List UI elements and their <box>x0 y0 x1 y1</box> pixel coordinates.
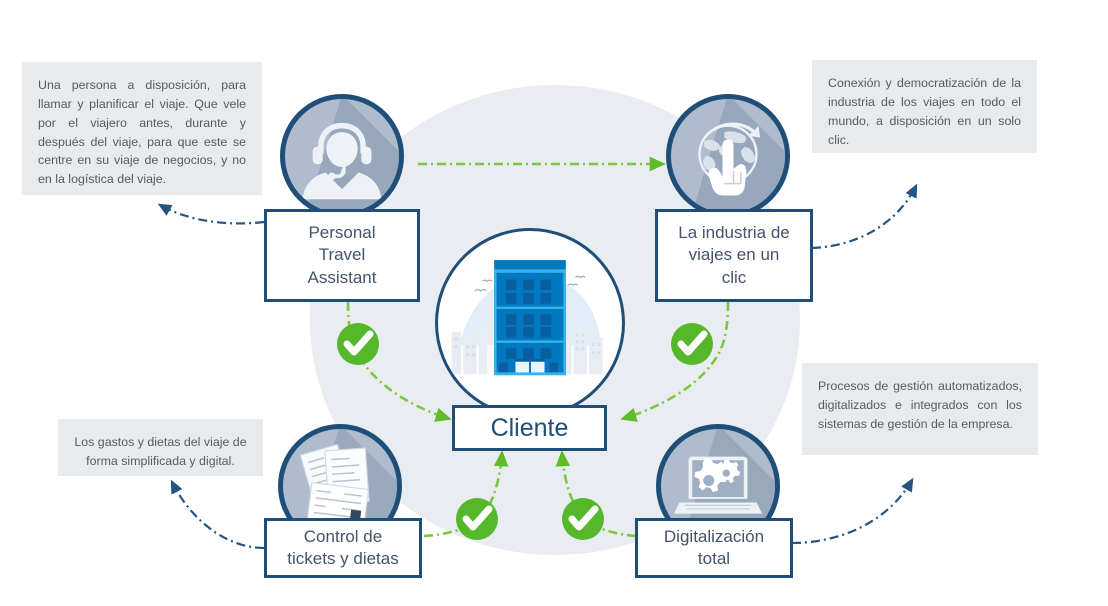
note-industria-viajes: Conexión y democratización de la industr… <box>812 60 1037 153</box>
note-control-tickets: Los gastos y dietas del viaje de forma s… <box>58 419 263 476</box>
navy-arrow-note-bottom-right <box>792 480 912 543</box>
center-circle <box>435 228 625 418</box>
center-label-cliente[interactable]: Cliente <box>452 405 607 451</box>
node-label-control-tickets[interactable]: Control de tickets y dietas <box>264 518 422 578</box>
note-personal-travel-assistant: Una persona a disposición, para llamar y… <box>22 62 262 195</box>
office-building-icon <box>438 231 622 415</box>
note-digitalizacion-total: Procesos de gestión automatizados, digit… <box>802 363 1038 455</box>
diagram-canvas: Personal Travel Assistant La industria d… <box>0 0 1108 606</box>
node-label-industria-viajes[interactable]: La industria de viajes en un clic <box>655 209 813 302</box>
node-icon-personal-travel-assistant[interactable] <box>280 94 404 218</box>
node-label-digitalizacion-total[interactable]: Digitalización total <box>635 518 793 578</box>
navy-arrow-note-bottom-left <box>172 482 264 548</box>
headset-agent-icon <box>285 99 399 213</box>
globe-touch-icon <box>671 99 785 213</box>
navy-arrow-note-top-left <box>160 205 264 223</box>
node-label-personal-travel-assistant[interactable]: Personal Travel Assistant <box>264 209 420 302</box>
node-icon-industria-viajes[interactable] <box>666 94 790 218</box>
navy-arrow-note-top-right <box>812 186 916 248</box>
